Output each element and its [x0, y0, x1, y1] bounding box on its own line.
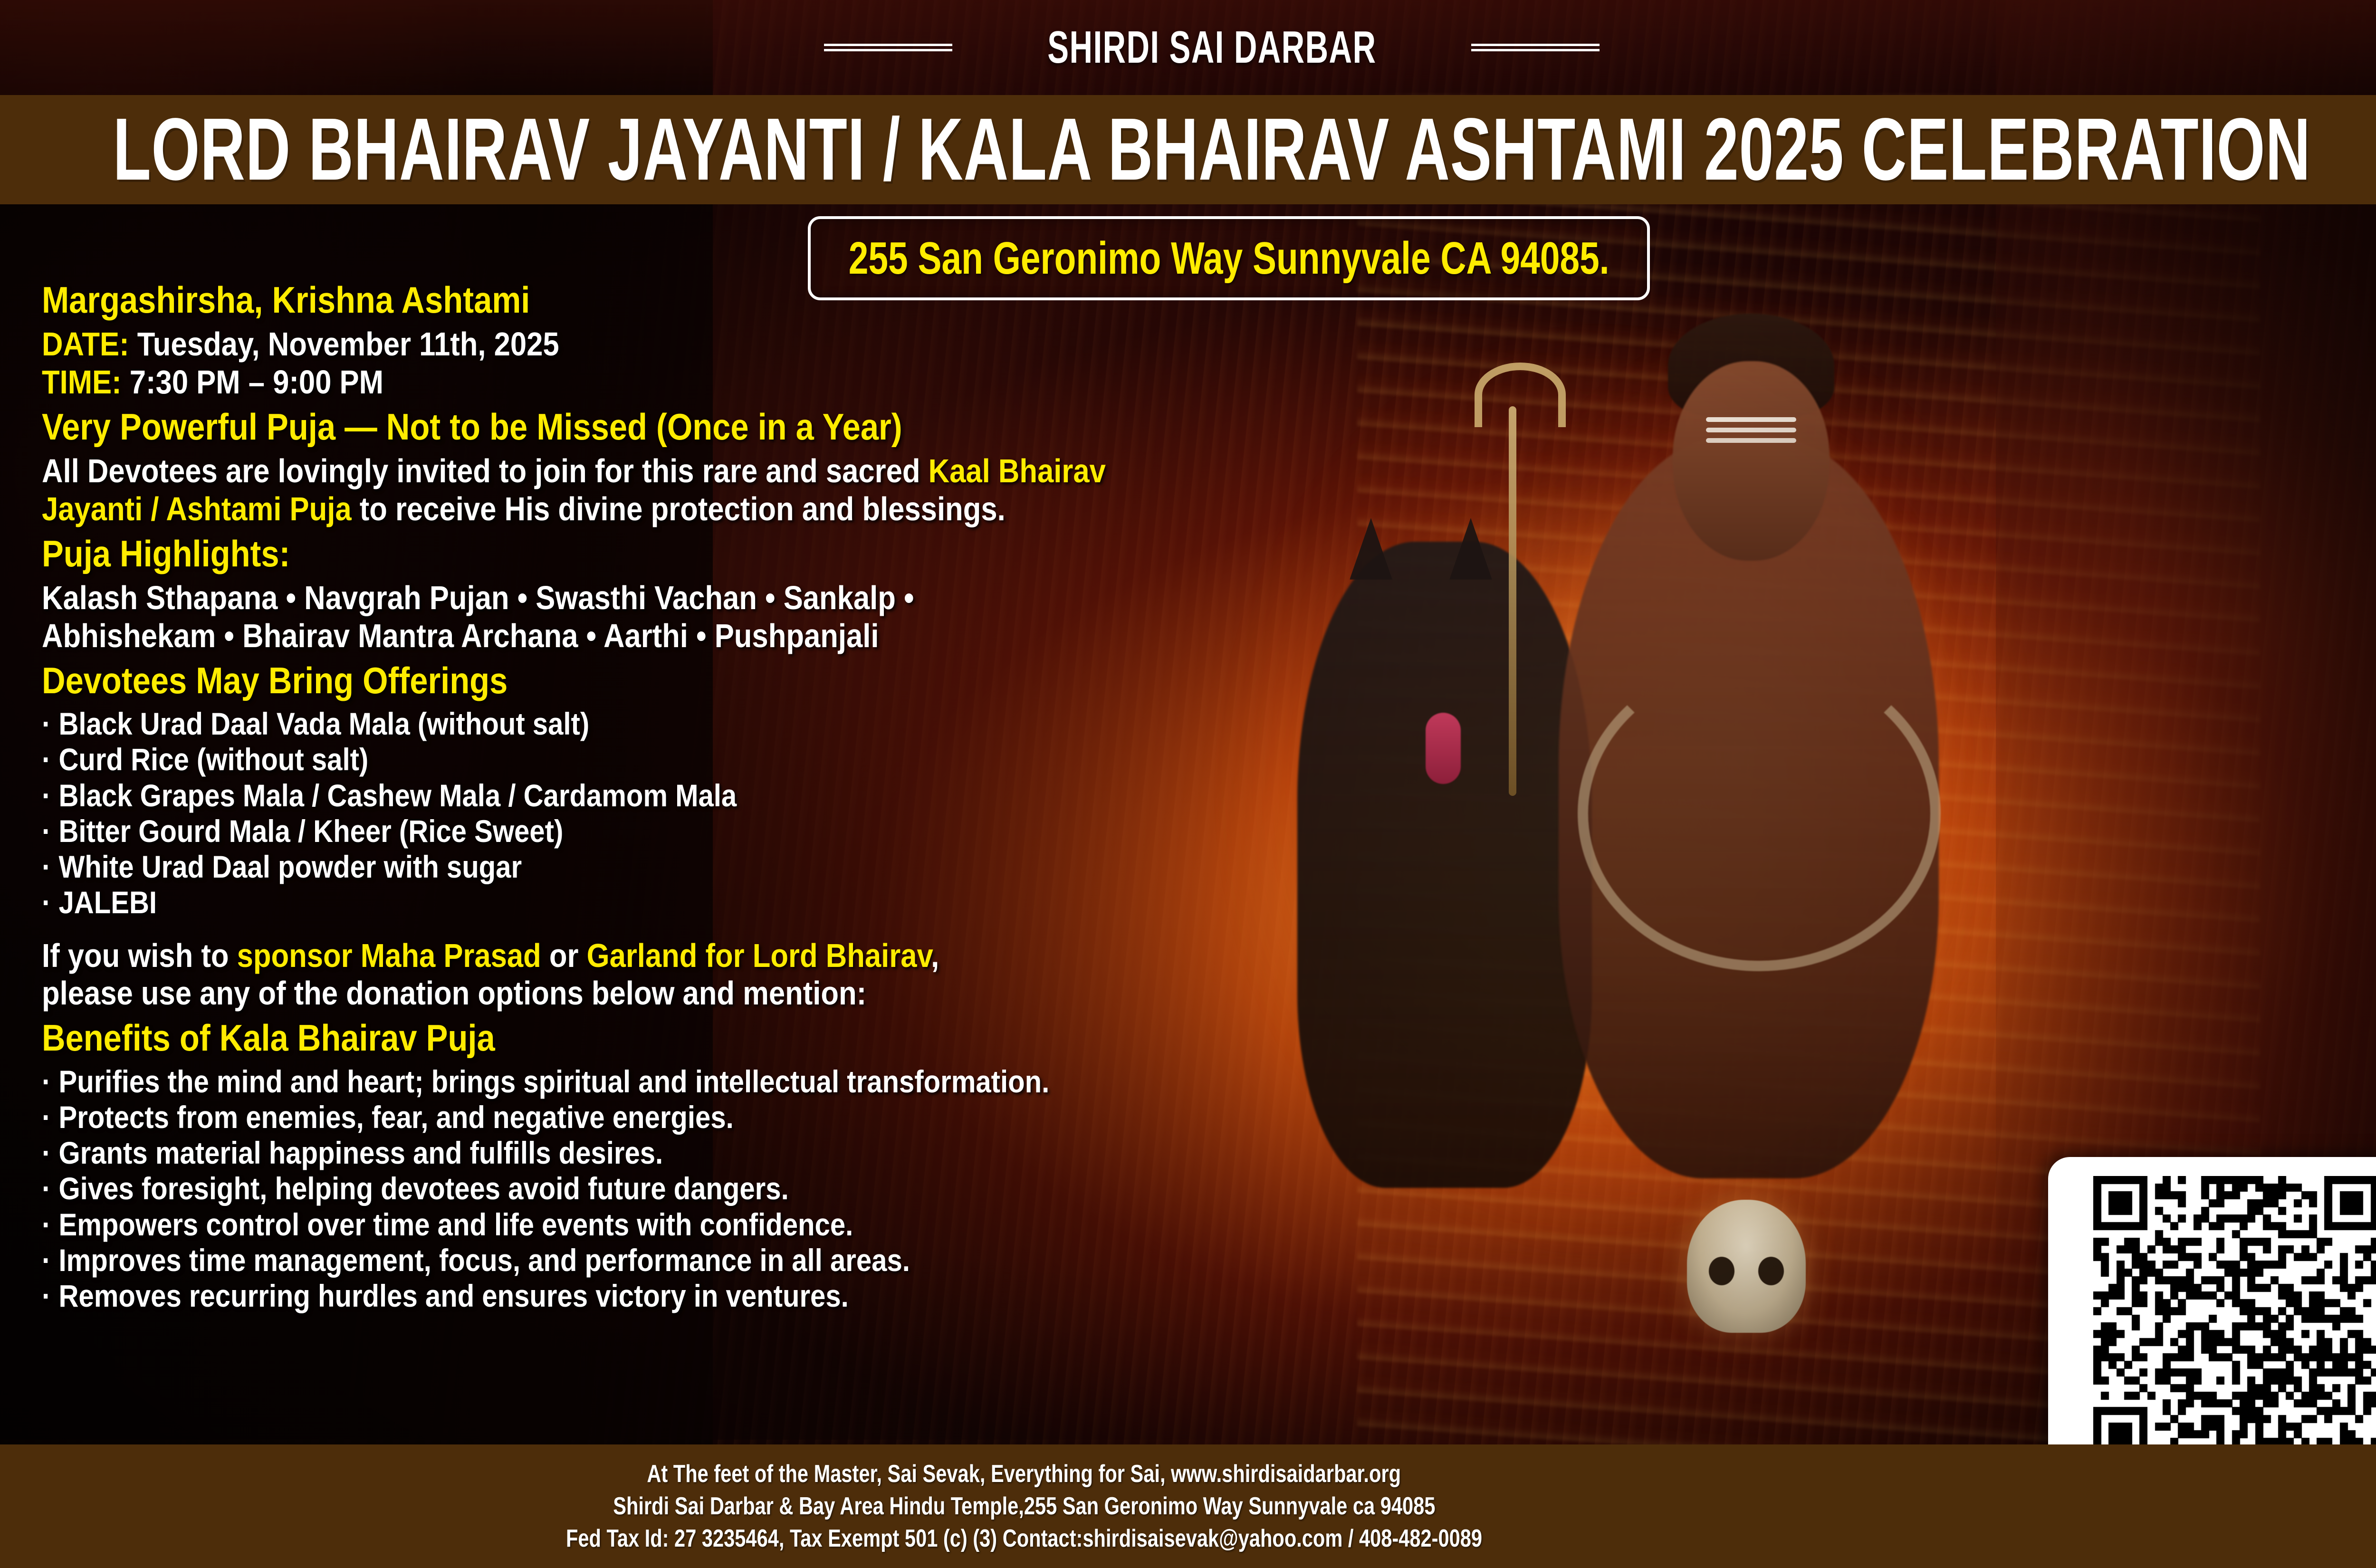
- brand-bar: SHIRDI SAI DARBAR: [0, 0, 2376, 95]
- invite-text-b: to receive His divine protection and ble…: [352, 490, 1006, 527]
- time-line: TIME: 7:30 PM – 9:00 PM: [42, 363, 1255, 402]
- offering-item: · Black Urad Daal Vada Mala (without sal…: [42, 706, 1255, 742]
- benefit-item: · Protects from enemies, fear, and negat…: [42, 1100, 1255, 1135]
- qr-code-icon[interactable]: [2093, 1176, 2376, 1461]
- offerings-heading: Devotees May Bring Offerings: [42, 660, 1255, 701]
- time-label: TIME:: [42, 363, 122, 401]
- sponsor-line-1: If you wish to sponsor Maha Prasad or Ga…: [42, 937, 1255, 975]
- highlights-heading: Puja Highlights:: [42, 533, 1255, 574]
- date-value: Tuesday, November 11th, 2025: [129, 325, 559, 363]
- highlights-line-1: Kalash Sthapana • Navgrah Pujan • Swasth…: [42, 579, 1255, 617]
- date-line: DATE: Tuesday, November 11th, 2025: [42, 325, 1255, 363]
- sponsor-line-2: please use any of the donation options b…: [42, 975, 1255, 1013]
- page-title: LORD BHAIRAV JAYANTI / KALA BHAIRAV ASHT…: [113, 105, 2311, 194]
- invite-text-a: All Devotees are lovingly invited to joi…: [42, 452, 929, 489]
- footer-line-3: Fed Tax Id: 27 3235464, Tax Exempt 501 (…: [566, 1524, 1482, 1553]
- poster-canvas: SHIRDI SAI DARBAR LORD BHAIRAV JAYANTI /…: [0, 0, 2376, 1568]
- benefit-item: · Empowers control over time and life ev…: [42, 1207, 1255, 1243]
- footer-bar: At The feet of the Master, Sai Sevak, Ev…: [0, 1444, 2376, 1568]
- venue-address-text: 255 San Geronimo Way Sunnyvale CA 94085.: [849, 232, 1610, 285]
- invite-highlight-b: Jayanti / Ashtami Puja: [42, 490, 352, 527]
- invite-highlight-a: Kaal Bhairav: [929, 452, 1106, 489]
- time-value: 7:30 PM – 9:00 PM: [122, 363, 383, 401]
- title-band: LORD BHAIRAV JAYANTI / KALA BHAIRAV ASHT…: [0, 95, 2376, 204]
- sponsor-highlight-prasad: sponsor Maha Prasad: [237, 937, 541, 974]
- sponsor-text-b: or: [541, 937, 587, 974]
- tagline: Very Powerful Puja — Not to be Missed (O…: [42, 406, 1255, 448]
- offering-item: · White Urad Daal powder with sugar: [42, 849, 1255, 885]
- content-column: Margashirsha, Krishna Ashtami DATE: Tues…: [42, 279, 1420, 1314]
- offering-item: · JALEBI: [42, 885, 1255, 920]
- benefit-item: · Gives foresight, helping devotees avoi…: [42, 1171, 1255, 1206]
- sponsor-text-c: ,: [931, 937, 939, 974]
- invite-line-2: Jayanti / Ashtami Puja to receive His di…: [42, 490, 1255, 528]
- highlights-line-2: Abhishekam • Bhairav Mantra Archana • Aa…: [42, 617, 1255, 655]
- brand-rule-right-icon: [1471, 44, 1600, 51]
- sponsor-highlight-garland: Garland for Lord Bhairav: [587, 937, 931, 974]
- brand-rule-left-icon: [824, 44, 952, 51]
- tithi-heading: Margashirsha, Krishna Ashtami: [42, 279, 1255, 321]
- benefit-item: · Purifies the mind and heart; brings sp…: [42, 1064, 1255, 1100]
- offering-item: · Bitter Gourd Mala / Kheer (Rice Sweet): [42, 813, 1255, 849]
- offering-item: · Black Grapes Mala / Cashew Mala / Card…: [42, 778, 1255, 813]
- benefit-item: · Removes recurring hurdles and ensures …: [42, 1278, 1255, 1314]
- benefit-item: · Improves time management, focus, and p…: [42, 1243, 1255, 1278]
- date-label: DATE:: [42, 325, 129, 363]
- invite-line-1: All Devotees are lovingly invited to joi…: [42, 452, 1255, 490]
- sponsor-text-a: If you wish to: [42, 937, 237, 974]
- benefit-item: · Grants material happiness and fulfills…: [42, 1135, 1255, 1171]
- offering-item: · Curd Rice (without salt): [42, 742, 1255, 777]
- footer-line-2: Shirdi Sai Darbar & Bay Area Hindu Templ…: [613, 1492, 1435, 1520]
- footer-line-1: At The feet of the Master, Sai Sevak, Ev…: [647, 1460, 1401, 1488]
- benefits-heading: Benefits of Kala Bhairav Puja: [42, 1017, 1255, 1059]
- brand-title: SHIRDI SAI DARBAR: [1047, 21, 1376, 74]
